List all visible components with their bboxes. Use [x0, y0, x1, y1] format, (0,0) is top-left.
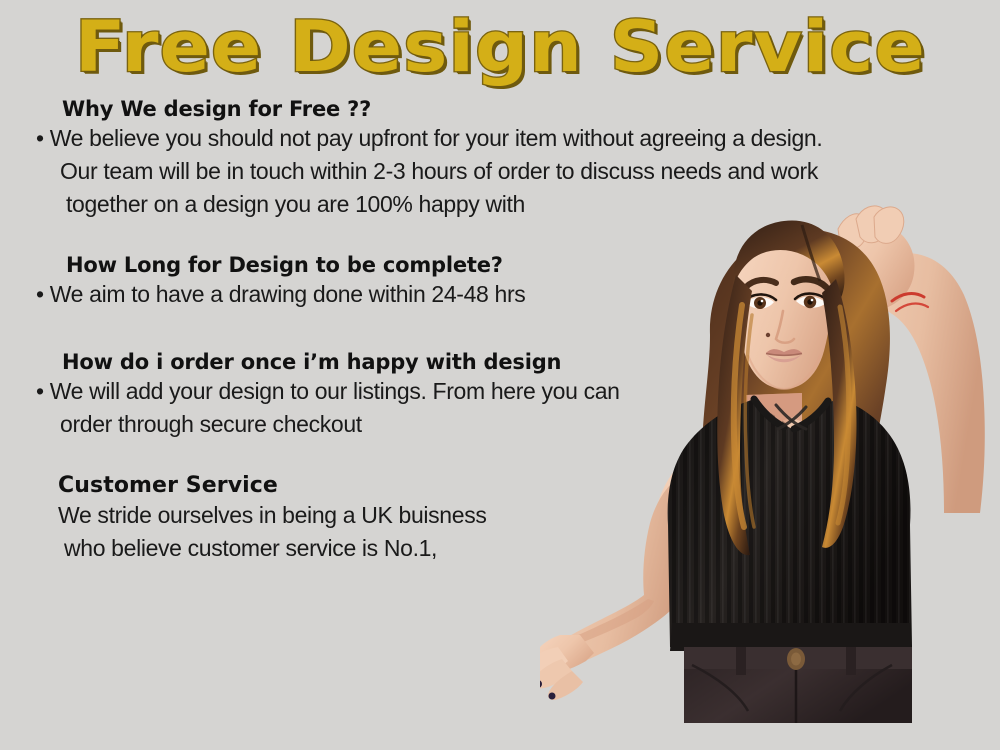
model-photo: [540, 195, 1000, 723]
section-why: Why We design for Free ?? • We believe y…: [36, 96, 822, 221]
section-why-heading: Why We design for Free ??: [36, 96, 822, 122]
hem-band: [670, 623, 912, 651]
section-how-order-line-1: • We will add your design to our listing…: [36, 375, 620, 408]
section-how-long-line-1: • We aim to have a drawing done within 2…: [36, 278, 525, 311]
belt-loop-right: [846, 647, 856, 675]
nail-3: [549, 693, 556, 700]
section-how-long-heading: How Long for Design to be complete?: [36, 252, 525, 278]
jeans: [684, 647, 912, 723]
section-why-line-2: Our team will be in touch within 2-3 hou…: [36, 155, 822, 188]
title-container: Free Design Service: [0, 8, 1000, 86]
beauty-mark: [766, 333, 770, 337]
section-why-line-1: • We believe you should not pay upfront …: [36, 122, 822, 155]
section-how-long: How Long for Design to be complete? • We…: [36, 252, 525, 311]
section-customer-service-line-2: who believe customer service is No.1,: [36, 532, 487, 565]
section-how-order-line-2: order through secure checkout: [36, 408, 620, 441]
section-customer-service: Customer Service We stride ourselves in …: [36, 473, 487, 565]
section-customer-service-heading: Customer Service: [36, 473, 487, 499]
poster-canvas: Free Design Service: [0, 0, 1000, 750]
section-why-line-3: together on a design you are 100% happy …: [36, 188, 822, 221]
model-photo-illustration: [540, 195, 1000, 723]
page-title: Free Design Service: [75, 8, 926, 86]
belt-loop-left: [736, 647, 746, 675]
section-how-order: How do i order once i’m happy with desig…: [36, 349, 620, 441]
section-how-order-heading: How do i order once i’m happy with desig…: [36, 349, 620, 375]
section-customer-service-line-1: We stride ourselves in being a UK buisne…: [36, 499, 487, 532]
halter-top: [660, 395, 920, 655]
